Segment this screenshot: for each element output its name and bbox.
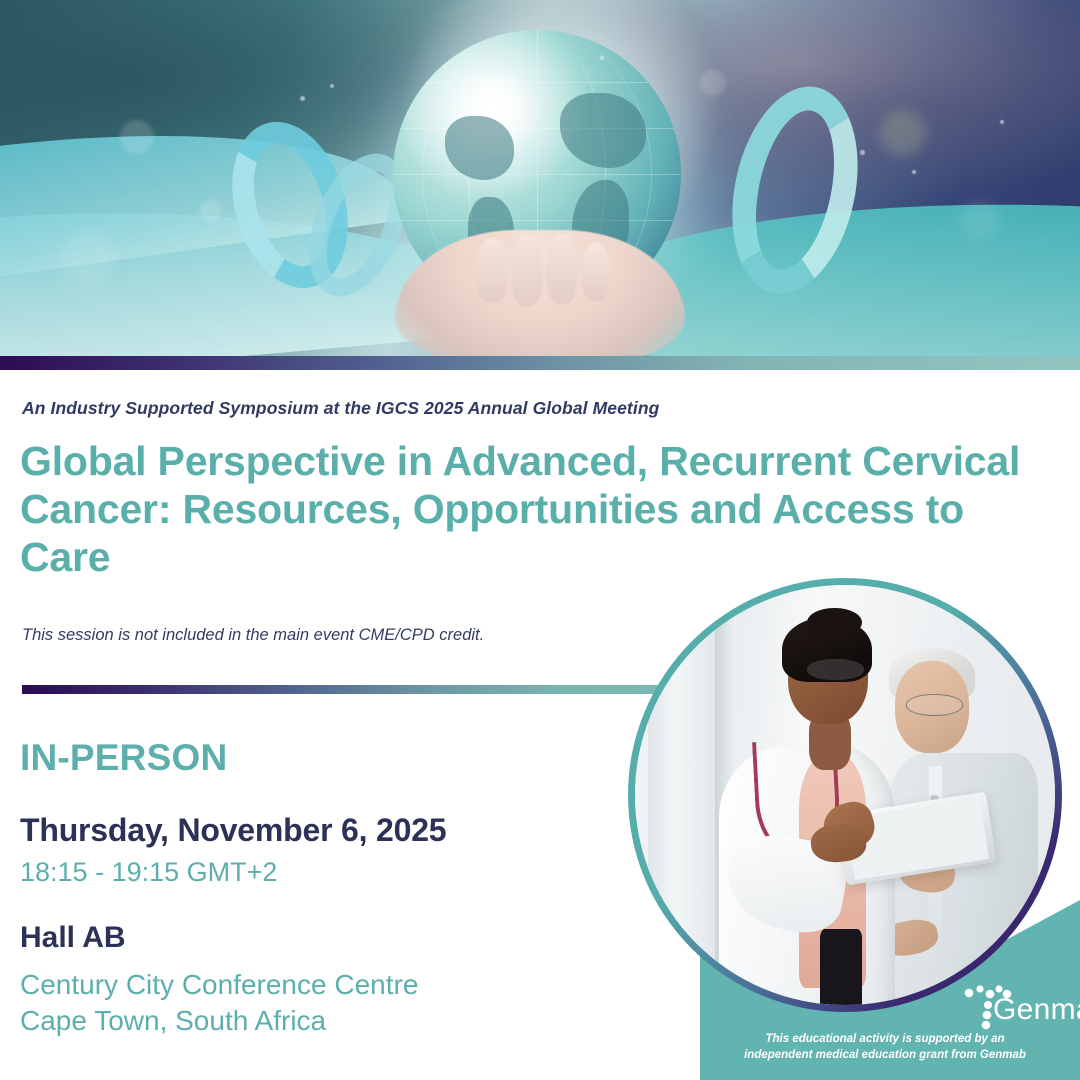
sponsor-disclaimer: This educational activity is supported b… <box>700 1032 1070 1063</box>
hero-banner <box>0 0 1080 356</box>
venue-line-1: Century City Conference Centre <box>20 967 580 1003</box>
event-eyebrow: An Industry Supported Symposium at the I… <box>22 398 842 419</box>
photo-circle-frame <box>628 578 1062 1012</box>
credit-note: This session is not included in the main… <box>22 626 722 645</box>
event-hall: Hall AB <box>20 921 126 955</box>
section-divider <box>22 685 702 694</box>
disclaimer-line-1: This educational activity is supported b… <box>700 1032 1070 1048</box>
clinician-patient-photo <box>635 585 1055 1005</box>
event-date: Thursday, November 6, 2025 <box>20 812 446 849</box>
event-venue: Century City Conference Centre Cape Town… <box>20 967 580 1039</box>
page-title: Global Perspective in Advanced, Recurren… <box>20 437 1055 581</box>
disclaimer-line-2: independent medical education grant from… <box>700 1048 1070 1064</box>
event-time: 18:15 - 19:15 GMT+2 <box>20 857 277 888</box>
hero-accent-bar <box>0 356 1080 370</box>
event-format-badge: IN-PERSON <box>20 737 227 779</box>
venue-line-2: Cape Town, South Africa <box>20 1003 580 1039</box>
genmab-wordmark: Genmab <box>993 993 1080 1027</box>
